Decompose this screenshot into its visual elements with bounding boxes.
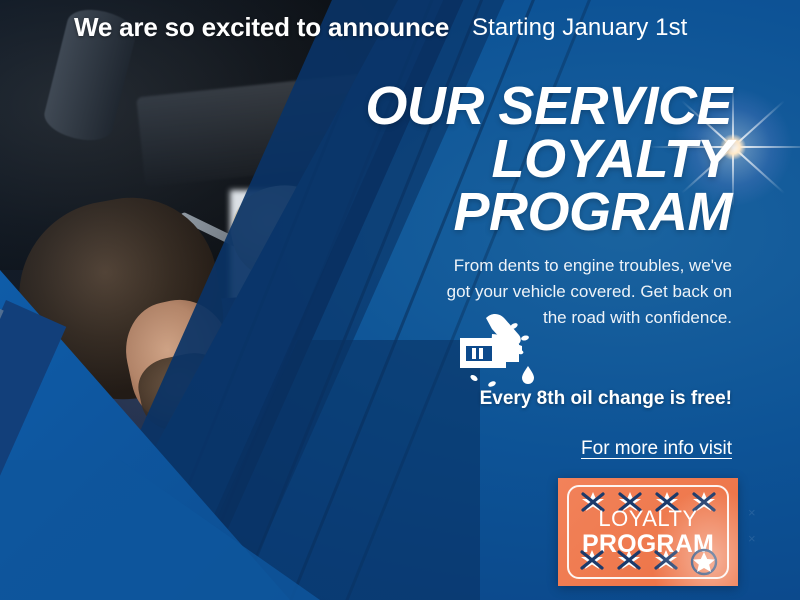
start-date-note: Starting January 1st — [472, 14, 687, 42]
headline-line-1: OUR SERVICE — [312, 80, 732, 133]
more-info-link[interactable]: For more info visit — [402, 438, 732, 460]
headline-line-3: PROGRAM — [312, 186, 732, 239]
x-stamp-icon — [578, 548, 606, 572]
x-stamp-icon — [652, 548, 680, 572]
promo-poster: We are so excited to announce Starting J… — [0, 0, 800, 600]
more-info-link-label: For more info visit — [581, 438, 732, 459]
loyalty-card-title-1: LOYALTY — [558, 506, 738, 532]
loyalty-card: LOYALTY PROGRAM — [558, 478, 738, 586]
watermark: × × — [748, 500, 762, 552]
page-title: OUR SERVICE LOYALTY PROGRAM — [312, 80, 732, 239]
headline-line-2: LOYALTY — [312, 133, 732, 186]
offer-text: Every 8th oil change is free! — [402, 388, 732, 410]
stamp-row-bottom — [558, 548, 738, 576]
reward-star-icon — [689, 548, 719, 576]
x-stamp-icon — [615, 548, 643, 572]
oil-can-pouring-icon — [452, 300, 544, 396]
kicker-text: We are so excited to announce — [74, 12, 449, 43]
